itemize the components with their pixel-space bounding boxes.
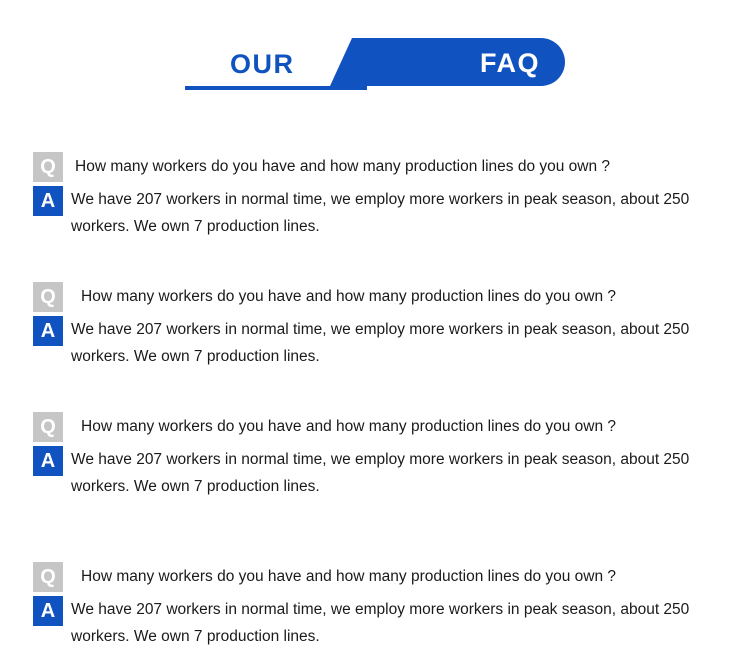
faq-question-text: How many workers do you have and how man… bbox=[63, 152, 750, 182]
faq-answer-row: A We have 207 workers in normal time, we… bbox=[0, 446, 750, 500]
spacer bbox=[0, 370, 750, 412]
faq-question-row[interactable]: Q How many workers do you have and how m… bbox=[0, 562, 750, 592]
faq-question-text: How many workers do you have and how man… bbox=[63, 562, 750, 592]
faq-question-row[interactable]: Q How many workers do you have and how m… bbox=[0, 282, 750, 312]
faq-item: Q How many workers do you have and how m… bbox=[0, 562, 750, 650]
faq-answer-text: We have 207 workers in normal time, we e… bbox=[63, 186, 750, 240]
question-badge: Q bbox=[33, 562, 63, 592]
spacer bbox=[0, 240, 750, 282]
faq-answer-row: A We have 207 workers in normal time, we… bbox=[0, 596, 750, 650]
faq-item: Q How many workers do you have and how m… bbox=[0, 282, 750, 370]
faq-item: Q How many workers do you have and how m… bbox=[0, 412, 750, 500]
faq-list: Q How many workers do you have and how m… bbox=[0, 120, 750, 650]
answer-badge: A bbox=[33, 316, 63, 346]
faq-question-text: How many workers do you have and how man… bbox=[63, 412, 750, 442]
faq-answer-text: We have 207 workers in normal time, we e… bbox=[63, 596, 750, 650]
answer-badge: A bbox=[33, 186, 63, 216]
faq-question-row[interactable]: Q How many workers do you have and how m… bbox=[0, 152, 750, 182]
question-badge: Q bbox=[33, 152, 63, 182]
answer-badge: A bbox=[33, 446, 63, 476]
spacer bbox=[0, 120, 750, 152]
faq-header: OUR FAQ bbox=[0, 0, 750, 120]
faq-answer-row: A We have 207 workers in normal time, we… bbox=[0, 316, 750, 370]
header-faq-label: FAQ bbox=[450, 43, 570, 83]
faq-item: Q How many workers do you have and how m… bbox=[0, 152, 750, 240]
header-our-label: OUR bbox=[230, 44, 295, 84]
faq-question-text: How many workers do you have and how man… bbox=[63, 282, 750, 312]
answer-badge: A bbox=[33, 596, 63, 626]
faq-answer-text: We have 207 workers in normal time, we e… bbox=[63, 446, 750, 500]
header-banner-group: OUR FAQ bbox=[185, 38, 565, 93]
faq-question-row[interactable]: Q How many workers do you have and how m… bbox=[0, 412, 750, 442]
question-badge: Q bbox=[33, 282, 63, 312]
spacer bbox=[0, 500, 750, 562]
question-badge: Q bbox=[33, 412, 63, 442]
faq-answer-text: We have 207 workers in normal time, we e… bbox=[63, 316, 750, 370]
header-underline bbox=[185, 86, 367, 90]
faq-answer-row: A We have 207 workers in normal time, we… bbox=[0, 186, 750, 240]
